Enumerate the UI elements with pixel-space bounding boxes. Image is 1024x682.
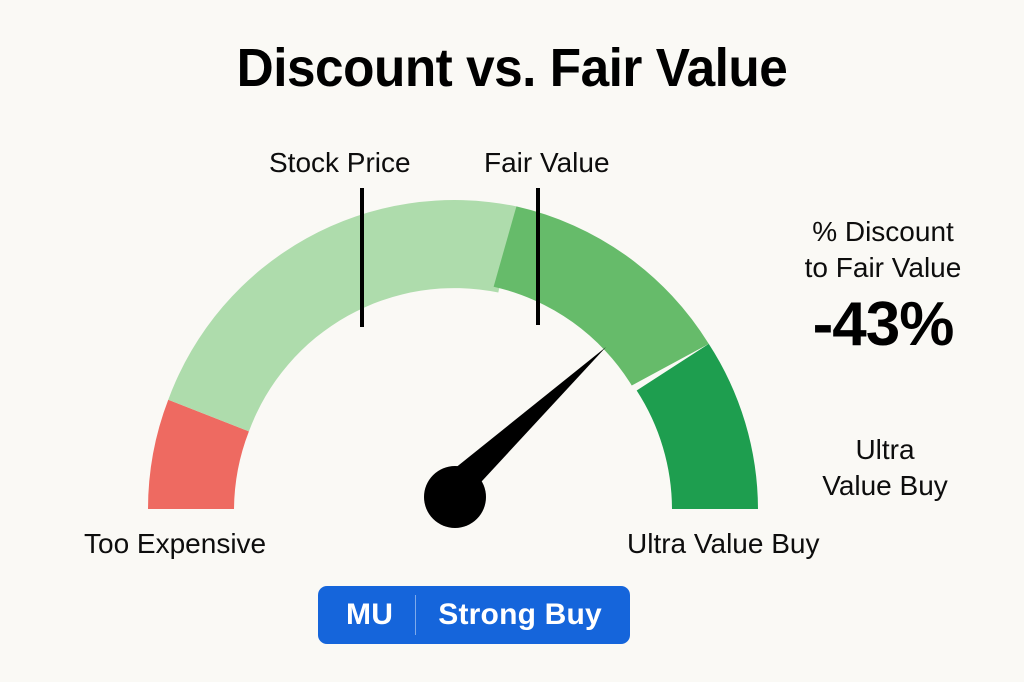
gauge-chart-canvas: Discount vs. Fair Value Stock Price Fair… xyxy=(0,0,1024,682)
discount-readout: % Discount to Fair Value -43% xyxy=(742,214,1024,357)
gauge-segment-fair-range xyxy=(168,200,516,431)
ticker-rating-badge[interactable]: MU Strong Buy xyxy=(318,586,630,644)
discount-caption: % Discount to Fair Value xyxy=(742,214,1024,286)
stock-price-label: Stock Price xyxy=(269,148,411,179)
rating-label: Strong Buy xyxy=(416,586,630,644)
left-end-zone-label: Too Expensive xyxy=(84,529,266,560)
fair-value-label: Fair Value xyxy=(484,148,610,179)
gauge-arc-segments xyxy=(148,200,758,509)
ticker-symbol: MU xyxy=(318,586,415,644)
right-side-zone-label: Ultra Value Buy xyxy=(760,432,1010,505)
gauge-needle xyxy=(424,347,606,528)
needle-hub xyxy=(424,466,486,528)
right-end-zone-label: Ultra Value Buy xyxy=(627,529,819,560)
gauge-segment-value-buy xyxy=(494,206,709,385)
discount-value: -43% xyxy=(742,292,1024,357)
